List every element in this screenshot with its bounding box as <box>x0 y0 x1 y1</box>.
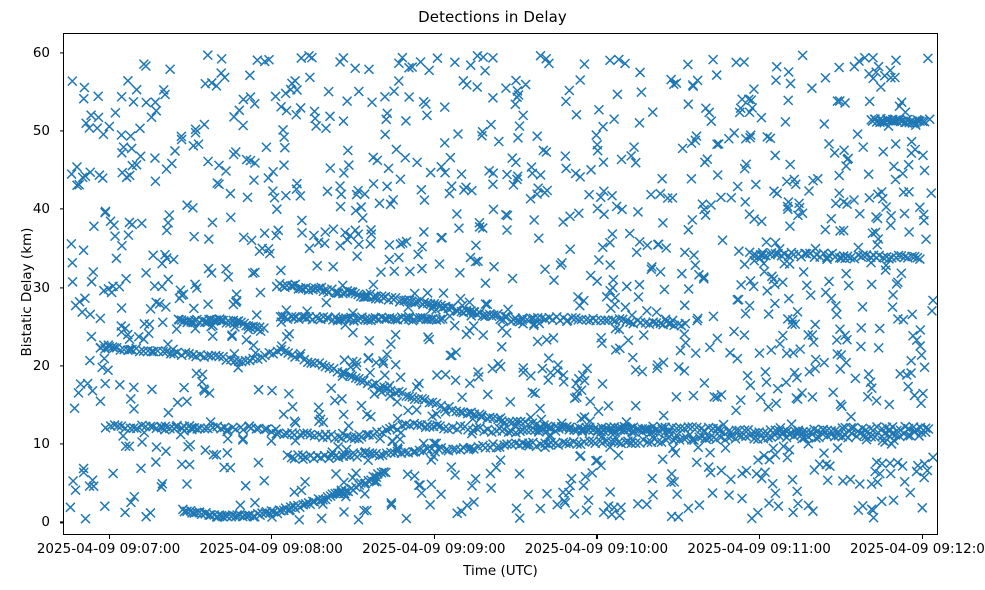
x-tick-label: 2025-04-09 09:10:00 <box>525 541 668 557</box>
y-tick-label: 50 <box>6 123 50 139</box>
x-tick-label: 2025-04-09 09:09:00 <box>362 541 505 557</box>
y-tick-mark <box>60 52 64 53</box>
plot-area <box>63 33 938 535</box>
y-tick-label: 10 <box>6 436 50 452</box>
y-tick-label: 20 <box>6 358 50 374</box>
x-tick-label: 2025-04-09 09:07:00 <box>37 541 180 557</box>
y-tick-label: 0 <box>6 514 50 530</box>
y-tick-mark <box>60 444 64 445</box>
scatter-layer <box>64 34 937 534</box>
chart-title: Detections in Delay <box>0 8 985 26</box>
x-tick-mark <box>759 535 760 539</box>
y-tick-mark <box>60 130 64 131</box>
x-tick-mark <box>109 535 110 539</box>
x-tick-label: 2025-04-09 09:12:00 <box>850 541 985 557</box>
x-tick-label: 2025-04-09 09:08:00 <box>199 541 342 557</box>
y-tick-label: 30 <box>6 280 50 296</box>
y-tick-label: 40 <box>6 201 50 217</box>
x-tick-label: 2025-04-09 09:11:00 <box>687 541 830 557</box>
x-tick-mark <box>922 535 923 539</box>
y-tick-mark <box>60 209 64 210</box>
y-tick-mark <box>60 365 64 366</box>
y-tick-mark <box>60 287 64 288</box>
x-tick-mark <box>434 535 435 539</box>
x-tick-mark <box>271 535 272 539</box>
x-tick-mark <box>596 535 597 539</box>
matplotlib-figure: Detections in Delay Bistatic Delay (km) … <box>0 0 985 590</box>
y-tick-mark <box>60 522 64 523</box>
y-tick-label: 60 <box>6 45 50 61</box>
x-axis-label: Time (UTC) <box>63 563 938 579</box>
